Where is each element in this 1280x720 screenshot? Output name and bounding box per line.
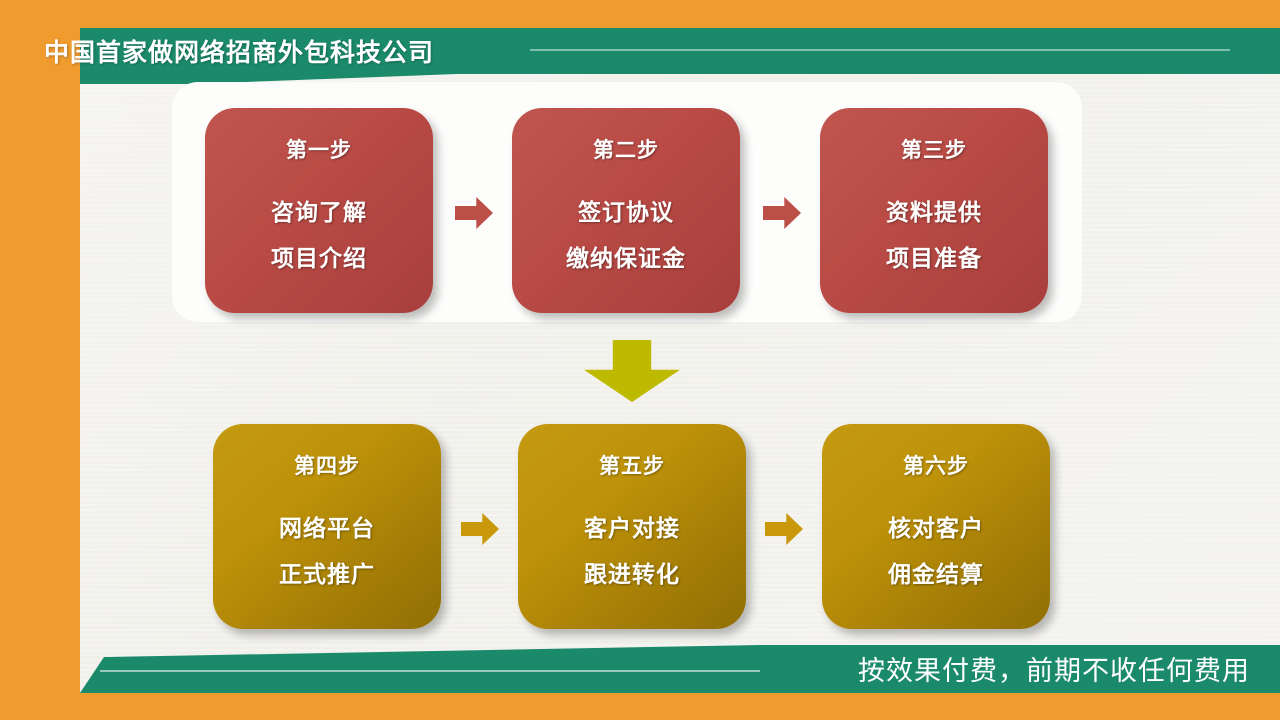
step-card-3-body: 资料提供 项目准备 [886, 190, 982, 282]
step-card-6-line1: 核对客户 [888, 506, 984, 552]
step-card-3-line1: 资料提供 [886, 190, 982, 236]
step-card-1-line2: 项目介绍 [271, 236, 367, 282]
step-card-3-line2: 项目准备 [886, 236, 982, 282]
step-card-5-body: 客户对接 跟进转化 [584, 506, 680, 598]
step-card-6-title: 第六步 [903, 450, 969, 480]
header-hairline-divider [530, 49, 1230, 51]
footer-slogan: 按效果付费，前期不收任何费用 [858, 649, 1250, 688]
step-card-1-line1: 咨询了解 [271, 190, 367, 236]
step-card-4-line1: 网络平台 [279, 506, 375, 552]
step-card-6[interactable]: 第六步 核对客户 佣金结算 [822, 424, 1050, 629]
step-card-5-title: 第五步 [599, 450, 665, 480]
step-card-5[interactable]: 第五步 客户对接 跟进转化 [518, 424, 746, 629]
step-card-6-body: 核对客户 佣金结算 [888, 506, 984, 598]
step-card-4-title: 第四步 [294, 450, 360, 480]
step-card-2-title: 第二步 [593, 134, 659, 164]
step-card-4[interactable]: 第四步 网络平台 正式推广 [213, 424, 441, 629]
footer-hairline-divider [100, 670, 760, 672]
step-card-4-body: 网络平台 正式推广 [279, 506, 375, 598]
page-title: 中国首家做网络招商外包科技公司 [44, 33, 434, 69]
step-card-1-title: 第一步 [286, 134, 352, 164]
step-card-2-line2: 缴纳保证金 [566, 236, 686, 282]
step-card-2-body: 签订协议 缴纳保证金 [566, 190, 686, 282]
step-card-2[interactable]: 第二步 签订协议 缴纳保证金 [512, 108, 740, 313]
step-card-3-title: 第三步 [901, 134, 967, 164]
step-card-3[interactable]: 第三步 资料提供 项目准备 [820, 108, 1048, 313]
slide-root: 中国首家做网络招商外包科技公司 第一步 咨询了解 项目介绍 第二步 签订协议 缴… [0, 0, 1280, 720]
step-card-2-line1: 签订协议 [566, 190, 686, 236]
step-card-5-line1: 客户对接 [584, 506, 680, 552]
step-card-4-line2: 正式推广 [279, 552, 375, 598]
step-card-1-body: 咨询了解 项目介绍 [271, 190, 367, 282]
step-card-5-line2: 跟进转化 [584, 552, 680, 598]
step-card-1[interactable]: 第一步 咨询了解 项目介绍 [205, 108, 433, 313]
step-card-6-line2: 佣金结算 [888, 552, 984, 598]
